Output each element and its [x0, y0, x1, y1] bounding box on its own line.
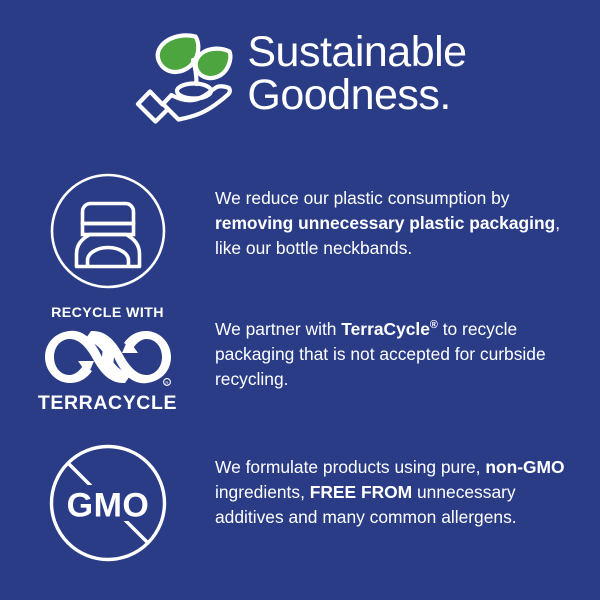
terracycle-bottom-label: TERRACYCLE	[38, 394, 177, 414]
icon-cell-gmo: GMO	[0, 443, 215, 563]
text-segment: ingredients,	[215, 482, 310, 502]
icon-cell-plastic	[0, 172, 215, 290]
text-segment: We partner with	[215, 319, 341, 339]
title-line-2: Goodness.	[247, 71, 450, 119]
terracycle-logo: RECYCLE WITH R TERRACYCLE	[38, 306, 178, 414]
text-segment: We formulate products using pure,	[215, 457, 485, 477]
feature-text-gmo: We formulate products using pure, non-GM…	[215, 443, 600, 530]
brand-name: TerraCycle	[341, 319, 430, 339]
text-segment-bold: FREE FROM	[310, 482, 412, 502]
feature-row-gmo: GMO We formulate products using pure, no…	[0, 443, 600, 563]
registered-mark: ®	[430, 319, 438, 331]
no-gmo-icon: GMO	[48, 443, 168, 563]
infinity-recycle-loop-icon: R	[42, 325, 174, 389]
plastic-bottle-neckband-icon	[49, 172, 167, 290]
title-line-1: Sustainable	[247, 28, 466, 76]
header: Sustainable Goodness.	[0, 22, 600, 130]
terracycle-top-label: RECYCLE WITH	[51, 306, 164, 320]
page-title: Sustainable Goodness.	[247, 31, 466, 120]
text-segment: We reduce our plastic consumption by	[215, 188, 510, 208]
feature-text-terracycle: We partner with TerraCycle® to recycle p…	[215, 306, 600, 392]
feature-row-plastic: We reduce our plastic consumption by rem…	[0, 172, 600, 290]
svg-text:R: R	[165, 381, 168, 386]
hand-holding-sprout-icon	[133, 26, 235, 130]
gmo-label: GMO	[66, 487, 149, 525]
text-segment-bold: non-GMO	[485, 457, 564, 477]
text-segment-bold: removing unnecessary plastic packaging	[215, 213, 555, 233]
icon-cell-terracycle: RECYCLE WITH R TERRACYCLE	[0, 306, 215, 414]
feature-row-terracycle: RECYCLE WITH R TERRACYCLE We partner wit…	[0, 306, 600, 414]
sustainability-poster: Sustainable Goodness. We reduce our plas…	[0, 0, 600, 600]
text-segment-bold: TerraCycle®	[341, 319, 438, 339]
feature-text-plastic: We reduce our plastic consumption by rem…	[215, 172, 600, 261]
